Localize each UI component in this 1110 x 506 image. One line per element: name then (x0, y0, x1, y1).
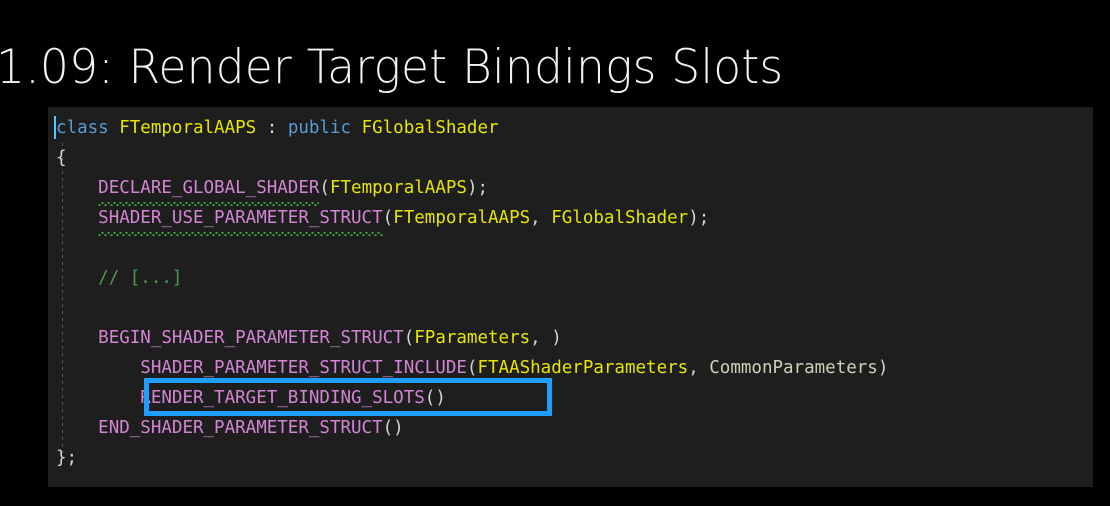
code-token: , ) (530, 328, 562, 348)
code-token: ); (688, 208, 709, 228)
code-line (48, 293, 1093, 323)
code-line: SHADER_USE_PARAMETER_STRUCT(FTemporalAAP… (48, 203, 1093, 233)
code-token: ) (878, 358, 889, 378)
code-line: // [...] (48, 263, 1093, 293)
code-line: RENDER_TARGET_BINDING_SLOTS() (48, 383, 1093, 413)
code-token (56, 358, 140, 378)
code-token: RENDER_TARGET_BINDING_SLOTS (140, 388, 424, 408)
code-token: { (56, 148, 67, 168)
code-token: END_SHADER_PARAMETER_STRUCT (98, 418, 382, 438)
code-lines: class FTemporalAAPS : public FGlobalShad… (48, 113, 1093, 473)
code-line: { (48, 143, 1093, 173)
code-token: ( (404, 328, 415, 348)
code-token (351, 118, 362, 138)
code-token: , (688, 358, 709, 378)
code-token: class (56, 118, 109, 138)
code-token (56, 328, 98, 348)
code-token: FTAAShaderParameters (477, 358, 688, 378)
code-token: FParameters (414, 328, 530, 348)
code-token: ( (319, 178, 330, 198)
code-token: ( (467, 358, 478, 378)
code-block: class FTemporalAAPS : public FGlobalShad… (48, 107, 1093, 487)
code-token: , (530, 208, 551, 228)
page-title: 1.09: Render Target Bindings Slots (0, 33, 1077, 105)
code-token (56, 268, 98, 288)
code-token: SHADER_PARAMETER_STRUCT_INCLUDE (140, 358, 467, 378)
code-token: ( (383, 208, 394, 228)
code-line: SHADER_PARAMETER_STRUCT_INCLUDE(FTAAShad… (48, 353, 1093, 383)
code-line: DECLARE_GLOBAL_SHADER(FTemporalAAPS); (48, 173, 1093, 203)
code-line: BEGIN_SHADER_PARAMETER_STRUCT(FParameter… (48, 323, 1093, 353)
code-token: }; (56, 448, 77, 468)
code-token (56, 178, 98, 198)
code-token-squiggly: SHADER_USE_PARAMETER_STRUCT (98, 203, 382, 233)
code-token: FTemporalAAPS (393, 208, 530, 228)
code-line: }; (48, 443, 1093, 473)
code-token: () (383, 418, 404, 438)
code-token: FGlobalShader (362, 118, 499, 138)
code-token (109, 118, 120, 138)
code-line: class FTemporalAAPS : public FGlobalShad… (48, 113, 1093, 143)
code-token (56, 388, 140, 408)
code-token: FTemporalAAPS (119, 118, 256, 138)
code-token: FTemporalAAPS (330, 178, 467, 198)
code-token: public (288, 118, 351, 138)
code-token: FGlobalShader (551, 208, 688, 228)
text-cursor-caret (54, 116, 56, 139)
code-token (56, 418, 98, 438)
code-token: BEGIN_SHADER_PARAMETER_STRUCT (98, 328, 404, 348)
code-token: : (256, 118, 288, 138)
code-token: ); (467, 178, 488, 198)
code-token: () (425, 388, 446, 408)
code-token: // [...] (98, 268, 182, 288)
code-line (48, 233, 1093, 263)
code-line: END_SHADER_PARAMETER_STRUCT() (48, 413, 1093, 443)
code-token: CommonParameters (709, 358, 878, 378)
code-token-squiggly: DECLARE_GLOBAL_SHADER (98, 173, 319, 203)
code-token (56, 208, 98, 228)
